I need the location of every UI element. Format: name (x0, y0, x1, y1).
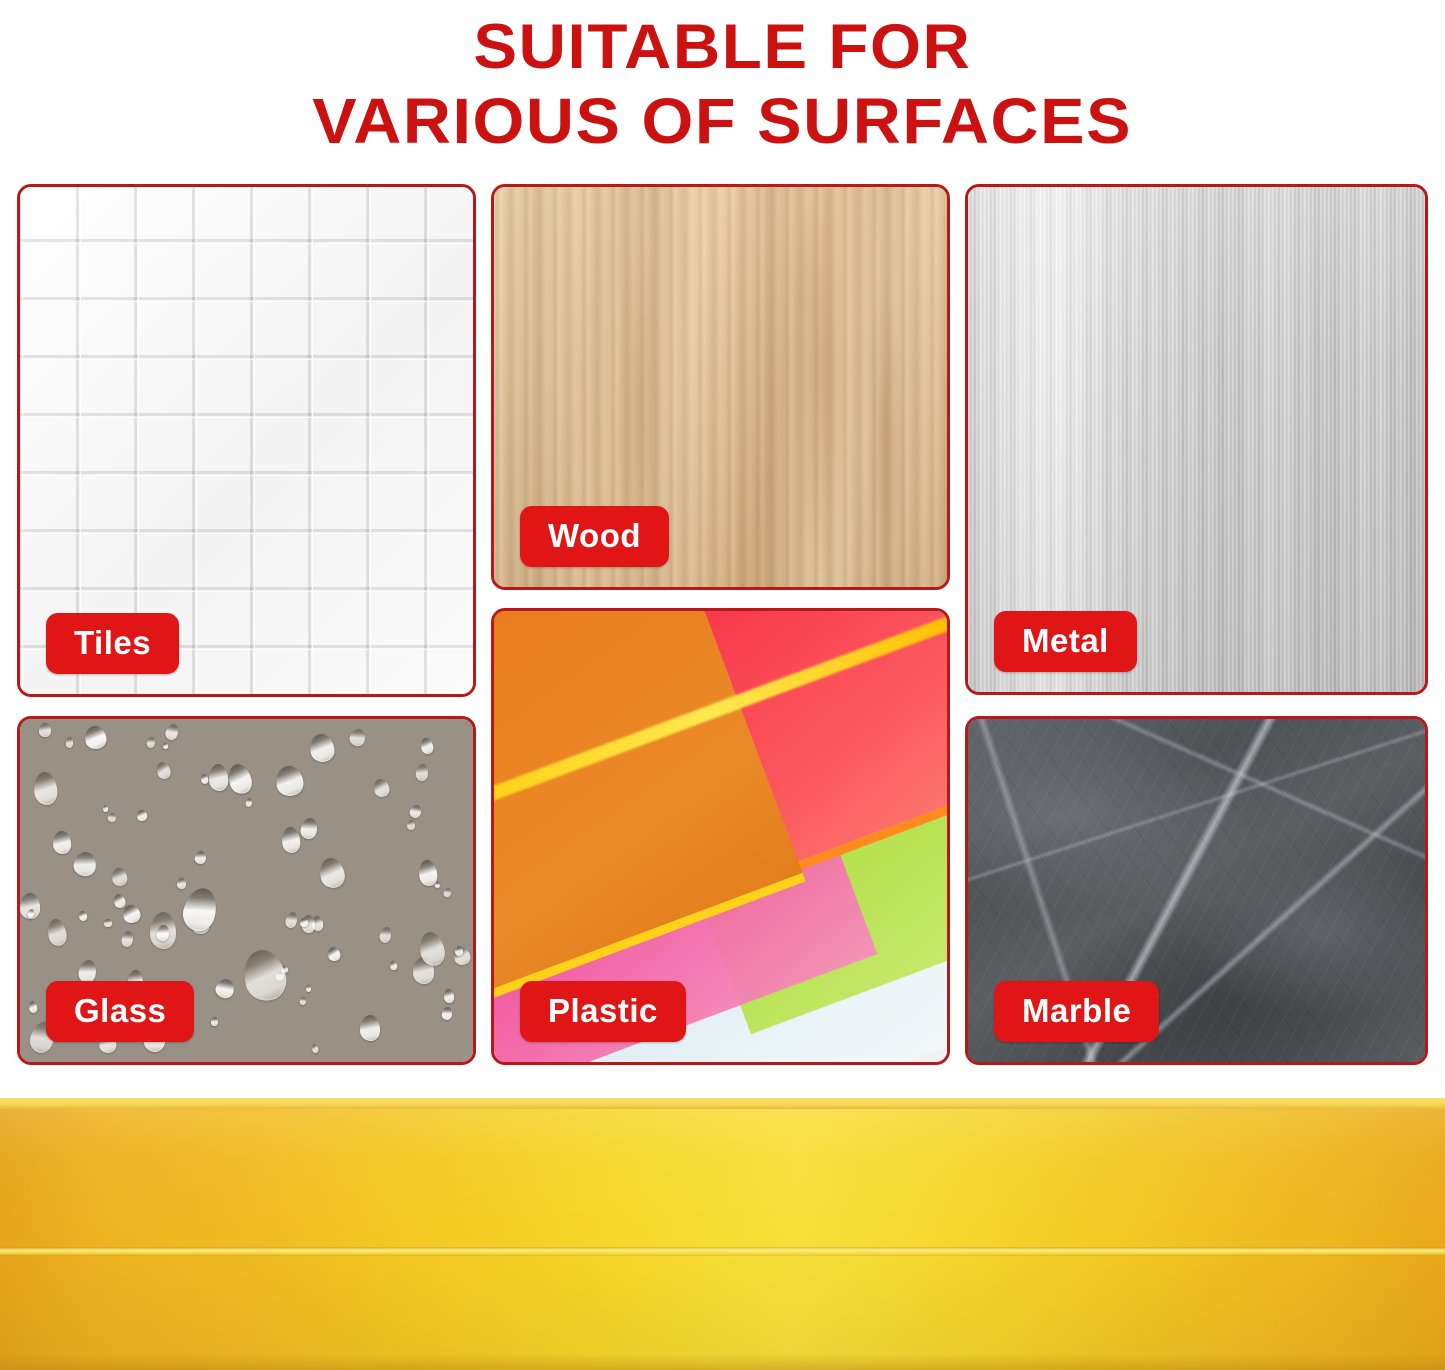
squeegee-ridge-line (0, 1247, 1445, 1256)
surface-label-plastic: Plastic (520, 981, 686, 1042)
surface-label-wood: Wood (520, 506, 669, 567)
water-droplet (32, 771, 58, 806)
water-droplet (66, 737, 74, 748)
water-droplet (110, 866, 128, 887)
water-droplet (78, 910, 88, 922)
title-line-2: VARIOUS OF SURFACES (313, 84, 1133, 160)
water-droplet (39, 723, 51, 737)
water-droplet (239, 946, 292, 1005)
water-droplet (408, 804, 423, 820)
water-droplet (273, 764, 305, 799)
water-droplet (306, 985, 312, 992)
water-droplet (349, 728, 367, 748)
surface-card-marble[interactable]: Marble (965, 716, 1428, 1065)
water-droplet (378, 925, 393, 944)
water-droplet (194, 850, 207, 864)
water-droplet (326, 946, 342, 963)
water-droplet (146, 736, 156, 749)
water-droplet (46, 917, 69, 946)
page-title: SUITABLE FOR VARIOUS OF SURFACES (0, 0, 1445, 170)
water-droplet (284, 911, 298, 929)
water-droplet (311, 1044, 320, 1055)
product-squeegee-bar (0, 1098, 1445, 1370)
water-droplet (455, 946, 463, 956)
water-droplet (415, 764, 428, 782)
surface-card-plastic[interactable]: Plastic (491, 608, 950, 1065)
water-droplet (72, 850, 97, 877)
water-droplet (371, 777, 391, 799)
water-droplet (419, 737, 434, 756)
water-droplet (281, 827, 301, 855)
water-droplet (120, 930, 134, 948)
water-droplet (317, 856, 348, 891)
water-droplet (82, 724, 107, 750)
water-droplet (444, 989, 456, 1004)
water-droplet (28, 1000, 39, 1013)
surface-label-tiles: Tiles (46, 613, 179, 674)
water-droplet (136, 809, 148, 822)
water-droplet (180, 885, 220, 934)
water-droplet (245, 797, 253, 807)
water-droplet (407, 820, 415, 830)
water-droplet (107, 812, 117, 823)
water-droplet (164, 722, 180, 741)
surface-label-metal: Metal (994, 611, 1137, 672)
surface-card-metal[interactable]: Metal (965, 184, 1428, 695)
water-droplet (443, 888, 452, 898)
water-droplet (176, 878, 185, 889)
water-droplet (162, 742, 168, 749)
surface-label-glass: Glass (46, 981, 194, 1042)
water-droplet (307, 732, 336, 764)
water-droplet (200, 773, 209, 784)
water-droplet (211, 1017, 219, 1026)
surface-card-tiles[interactable]: Tiles (17, 184, 476, 697)
surface-card-wood[interactable]: Wood (491, 184, 950, 590)
water-droplet (103, 805, 109, 812)
water-droplet (299, 997, 306, 1006)
water-droplet (104, 919, 112, 928)
surface-card-glass[interactable]: Glass (17, 716, 476, 1065)
title-line-1: SUITABLE FOR (474, 10, 972, 84)
water-droplet (441, 1006, 453, 1021)
squeegee-sheen (0, 1098, 1445, 1370)
water-droplet (299, 817, 319, 841)
water-droplet (435, 881, 441, 888)
water-droplet (155, 760, 173, 781)
water-droplet (208, 764, 229, 792)
water-droplet (52, 830, 71, 854)
water-droplet (389, 960, 398, 970)
surface-label-marble: Marble (994, 981, 1159, 1042)
squeegee-bottom-shadow (0, 1354, 1445, 1370)
water-droplet (225, 761, 254, 796)
water-droplet (214, 976, 237, 1000)
water-droplet (359, 1014, 380, 1040)
